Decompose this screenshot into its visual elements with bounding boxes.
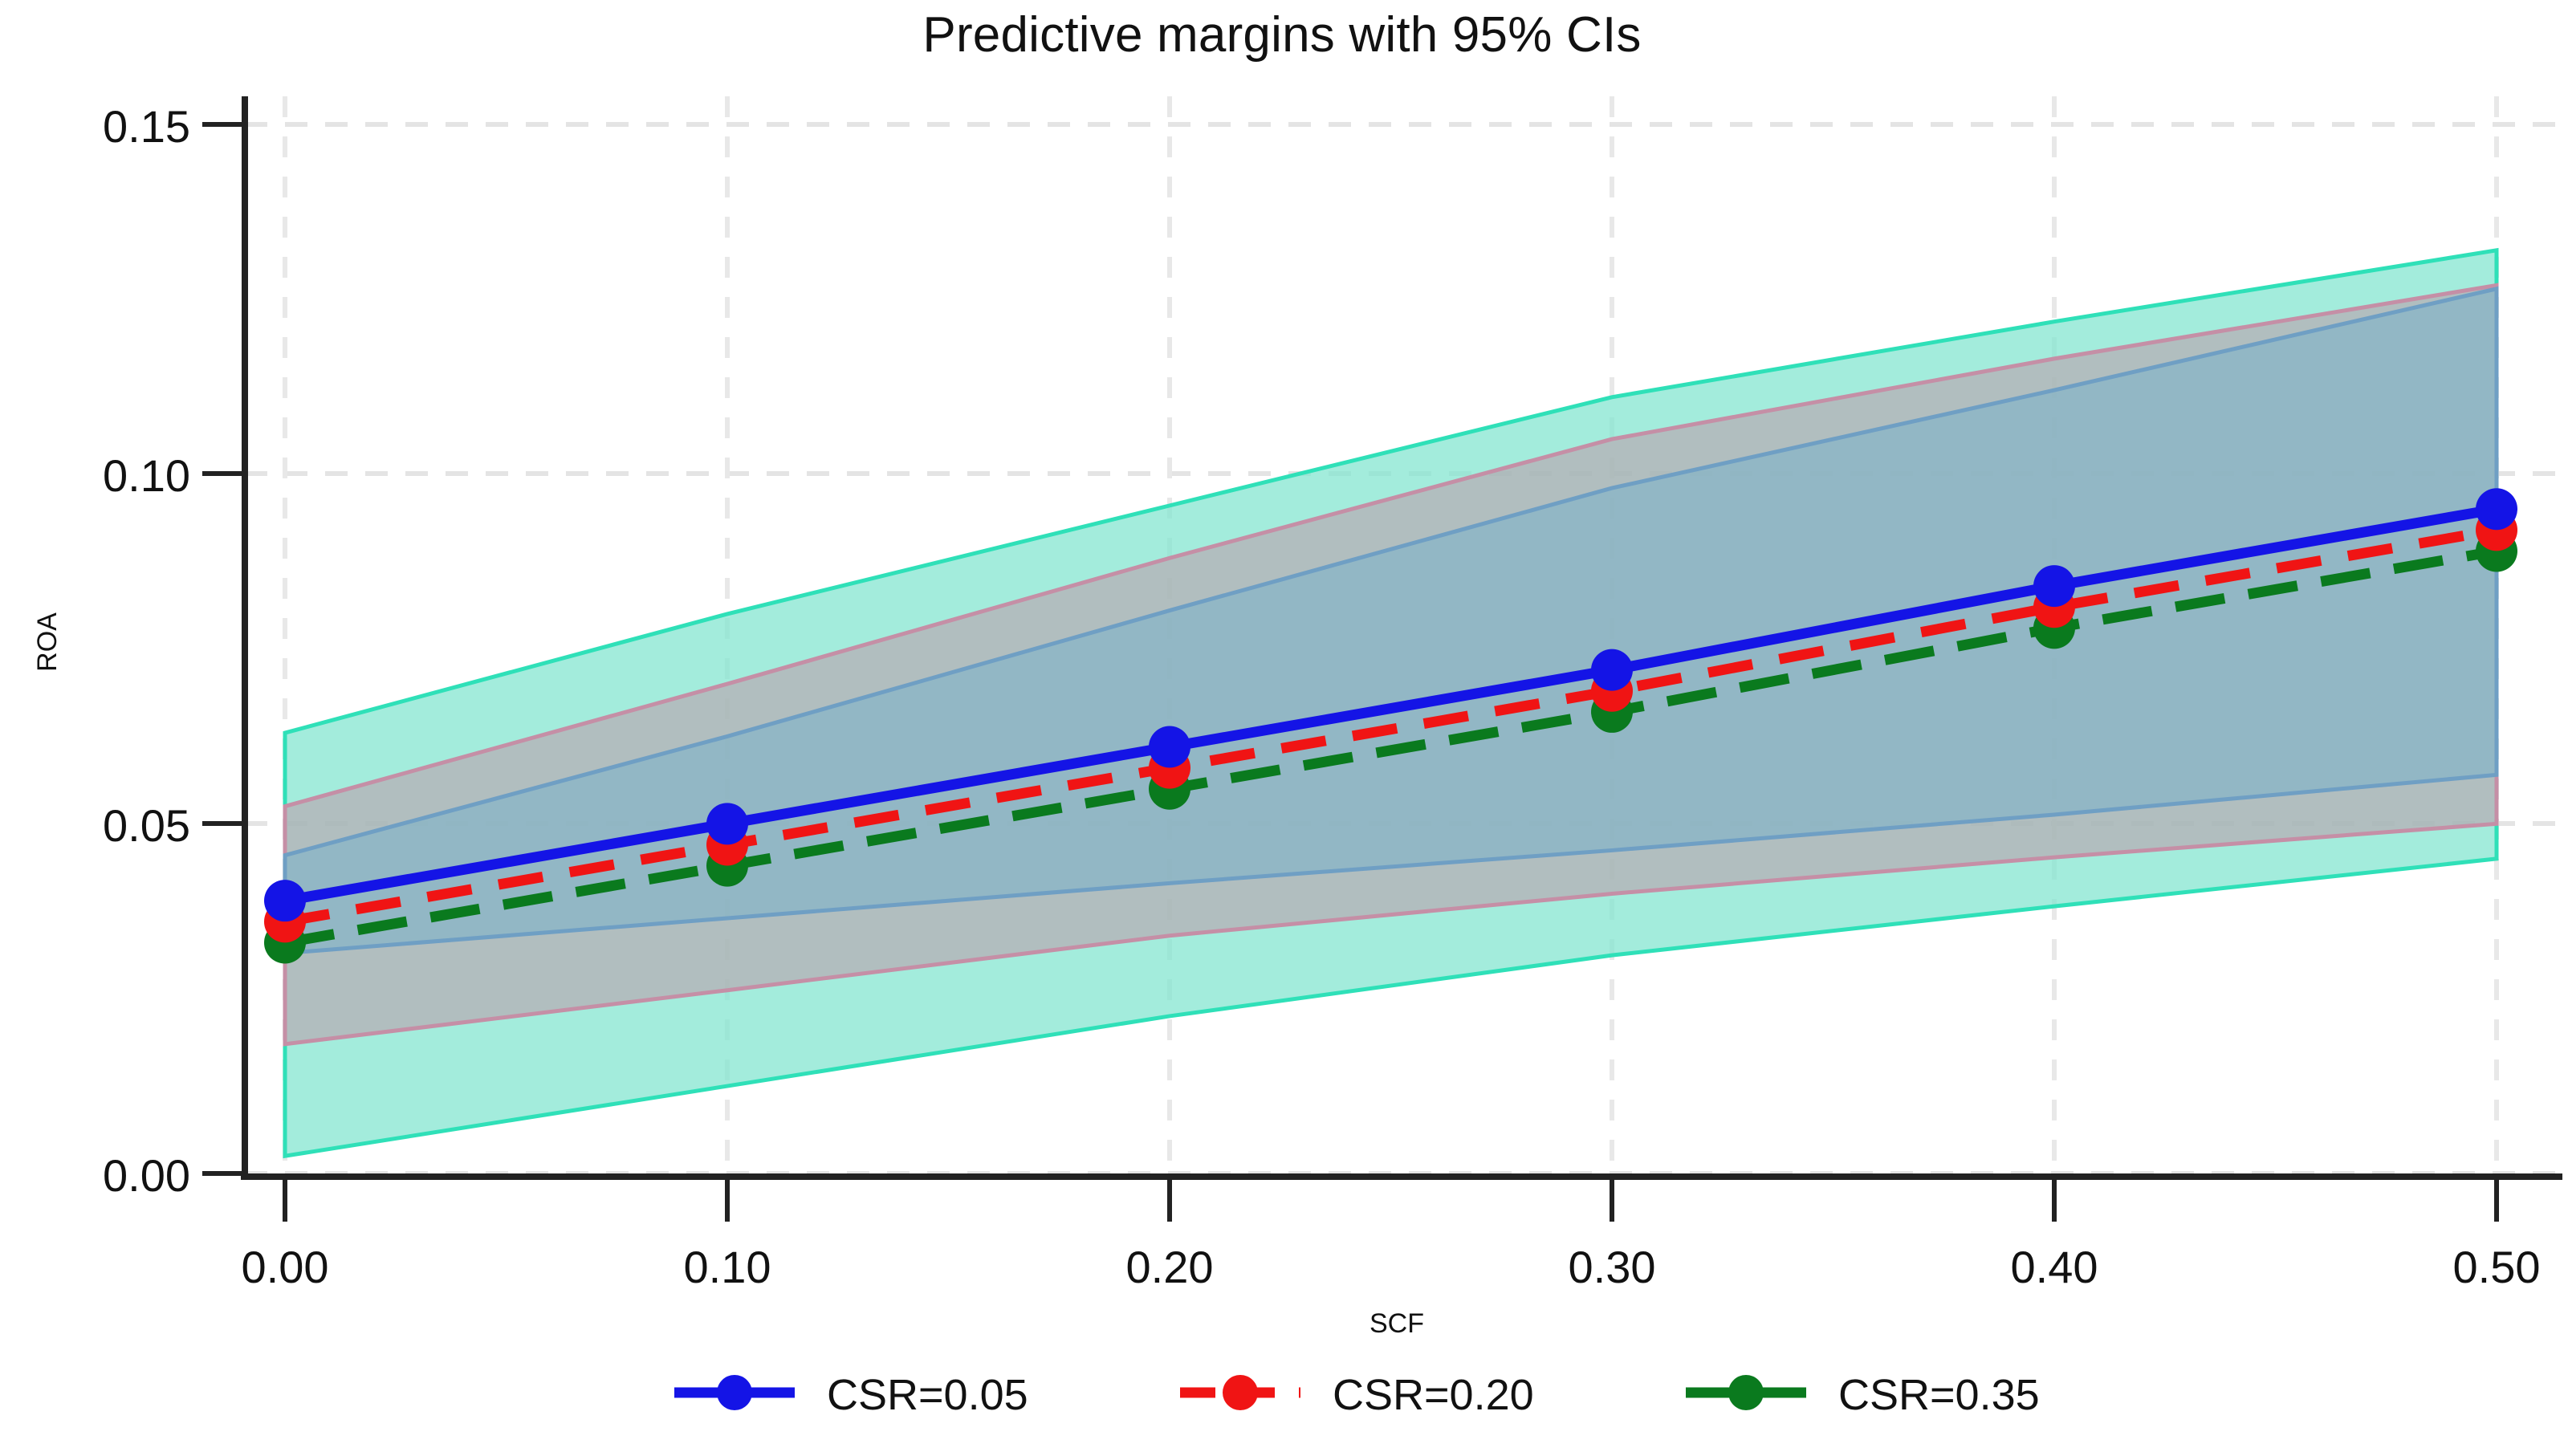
legend-swatch-marker-green xyxy=(1728,1375,1764,1410)
y-axis-ticks xyxy=(202,124,245,1173)
x-tick-label-1: 0.10 xyxy=(684,1242,771,1292)
data-point xyxy=(264,880,306,921)
y-tick-label-3: 0.00 xyxy=(103,1150,190,1201)
data-point xyxy=(2033,565,2075,607)
legend-swatch-marker-red xyxy=(1223,1375,1258,1410)
x-tick-label-0: 0.00 xyxy=(242,1242,329,1292)
legend-item-csr-020[interactable]: CSR=0.20 xyxy=(1180,1371,1534,1419)
legend-label-csr-020: CSR=0.20 xyxy=(1333,1371,1534,1419)
y-tick-label-2: 0.05 xyxy=(103,800,190,851)
x-axis-title: SCF xyxy=(1370,1308,1424,1339)
data-point xyxy=(706,803,748,844)
legend: CSR=0.05 CSR=0.20 CSR=0.35 xyxy=(674,1371,2040,1419)
data-point xyxy=(1591,649,1633,691)
data-point xyxy=(1149,726,1190,767)
x-axis-ticks xyxy=(285,1177,2497,1222)
y-tick-label-0: 0.15 xyxy=(103,101,190,152)
legend-item-csr-005[interactable]: CSR=0.05 xyxy=(674,1371,1028,1419)
legend-item-csr-035[interactable]: CSR=0.35 xyxy=(1686,1371,2040,1419)
legend-label-csr-035: CSR=0.35 xyxy=(1838,1371,2040,1419)
y-tick-label-1: 0.10 xyxy=(103,450,190,501)
legend-swatch-marker-blue xyxy=(717,1375,752,1410)
predictive-margins-plot: 0.15 0.10 0.05 0.00 0.00 0.10 0.20 0.30 … xyxy=(0,0,2564,1456)
x-tick-label-5: 0.50 xyxy=(2453,1242,2541,1292)
data-point xyxy=(2476,488,2517,530)
y-axis-title: ROA xyxy=(32,612,63,672)
x-tick-label-3: 0.30 xyxy=(1569,1242,1656,1292)
legend-label-csr-005: CSR=0.05 xyxy=(827,1371,1028,1419)
x-tick-label-2: 0.20 xyxy=(1126,1242,1214,1292)
chart-canvas: Predictive margins with 95% CIs xyxy=(0,0,2564,1456)
x-tick-label-4: 0.40 xyxy=(2011,1242,2098,1292)
